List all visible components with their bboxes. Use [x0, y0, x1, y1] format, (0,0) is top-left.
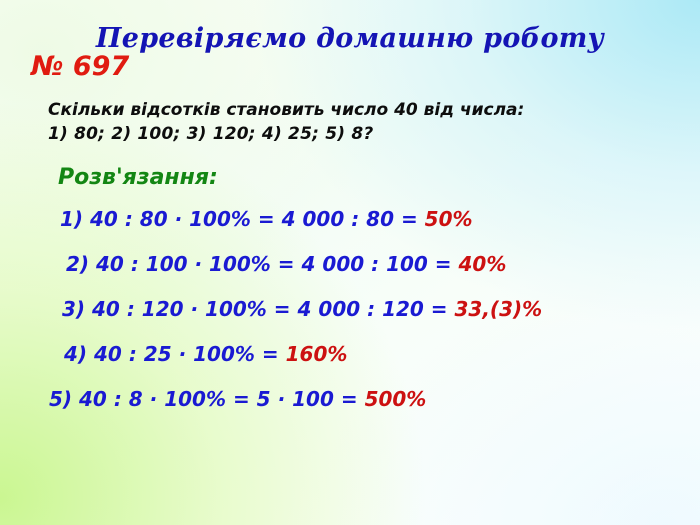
solution-answer: 40%: [459, 252, 507, 276]
solution-line: 1) 40 : 80 · 100% = 4 000 : 80 = 50%: [0, 206, 700, 251]
solution-line: 2) 40 : 100 · 100% = 4 000 : 100 = 40%: [0, 251, 700, 296]
solution-line: 3) 40 : 120 · 100% = 4 000 : 120 = 33,(3…: [0, 296, 700, 341]
solution-answer: 33,(3)%: [455, 297, 543, 321]
solution-expression: 3) 40 : 120 · 100% = 4 000 : 120 =: [62, 297, 455, 321]
solution-answer: 160%: [286, 342, 348, 366]
solution-line: 5) 40 : 8 · 100% = 5 · 100 = 500%: [0, 386, 700, 431]
slide-canvas: Перевіряємо домашню роботу № 697 Скільки…: [0, 0, 700, 525]
solution-answer: 50%: [425, 207, 473, 231]
task-number-label: № 697: [31, 51, 129, 83]
solution-list: 1) 40 : 80 · 100% = 4 000 : 80 = 50% 2) …: [0, 206, 700, 431]
problem-question: Скільки відсотків становить число 40 від…: [48, 98, 668, 122]
problem-options: 1) 80; 2) 100; 3) 120; 4) 25; 5) 8?: [48, 122, 668, 146]
solution-answer: 500%: [365, 387, 427, 411]
problem-statement: Скільки відсотків становить число 40 від…: [48, 98, 668, 146]
solution-expression: 4) 40 : 25 · 100% =: [64, 342, 286, 366]
solution-line: 4) 40 : 25 · 100% = 160%: [0, 341, 700, 386]
solution-heading: Розв'язання:: [58, 164, 218, 192]
solution-expression: 5) 40 : 8 · 100% = 5 · 100 =: [49, 387, 365, 411]
solution-expression: 2) 40 : 100 · 100% = 4 000 : 100 =: [66, 252, 459, 276]
solution-expression: 1) 40 : 80 · 100% = 4 000 : 80 =: [60, 207, 425, 231]
